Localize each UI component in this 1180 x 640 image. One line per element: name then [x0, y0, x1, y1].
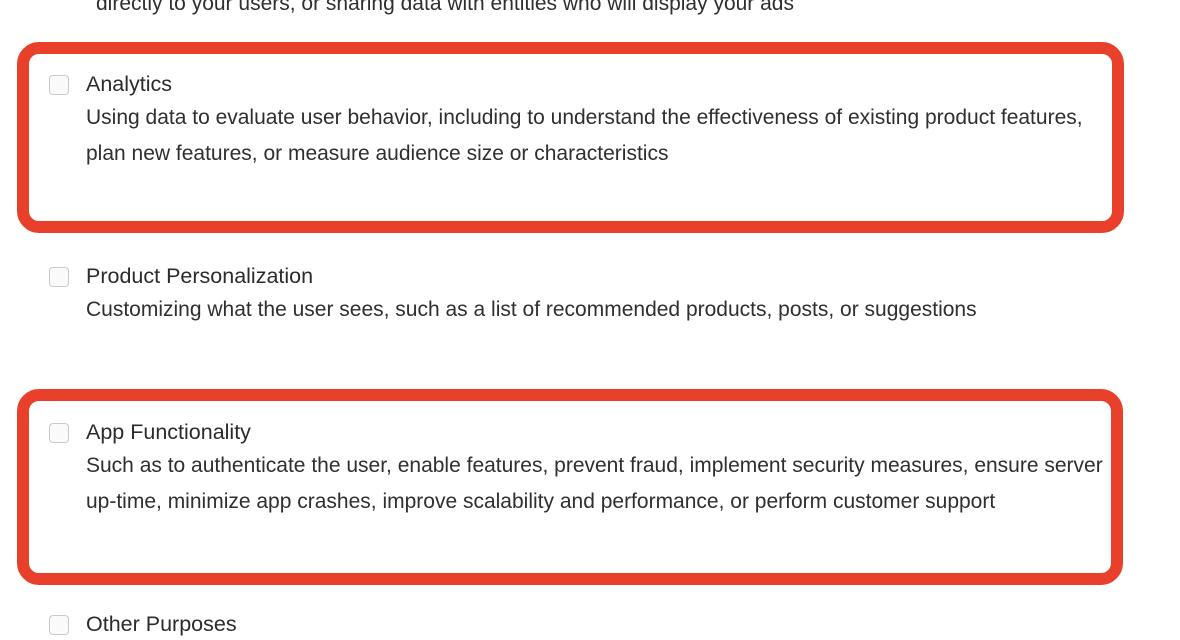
clipped-previous-description-line: directly to your users, or sharing data … — [96, 0, 1096, 22]
purpose-row-product-personalization[interactable]: Product Personalization Customizing what… — [49, 262, 1099, 328]
purpose-title-analytics: Analytics — [86, 70, 1089, 98]
purpose-title-product-personalization: Product Personalization — [86, 262, 977, 290]
checkbox-app-functionality[interactable] — [49, 423, 69, 443]
purpose-text-other-purposes: Other Purposes — [86, 610, 237, 640]
purpose-title-app-functionality: App Functionality — [86, 418, 1104, 446]
purpose-title-other-purposes: Other Purposes — [86, 610, 237, 638]
purpose-description-app-functionality: Such as to authenticate the user, enable… — [86, 448, 1104, 520]
purpose-description-analytics: Using data to evaluate user behavior, in… — [86, 100, 1089, 172]
purpose-description-product-personalization: Customizing what the user sees, such as … — [86, 292, 977, 328]
purposes-checklist-page: directly to your users, or sharing data … — [0, 0, 1180, 638]
checkbox-product-personalization[interactable] — [49, 267, 69, 287]
purpose-row-analytics[interactable]: Analytics Using data to evaluate user be… — [49, 70, 1089, 172]
purpose-row-app-functionality[interactable]: App Functionality Such as to authenticat… — [49, 418, 1104, 520]
purpose-text-product-personalization: Product Personalization Customizing what… — [86, 262, 977, 328]
checkbox-other-purposes[interactable] — [49, 615, 69, 635]
purpose-text-analytics: Analytics Using data to evaluate user be… — [86, 70, 1089, 172]
checkbox-analytics[interactable] — [49, 75, 69, 95]
purpose-row-other-purposes[interactable]: Other Purposes — [49, 610, 649, 640]
purpose-text-app-functionality: App Functionality Such as to authenticat… — [86, 418, 1104, 520]
